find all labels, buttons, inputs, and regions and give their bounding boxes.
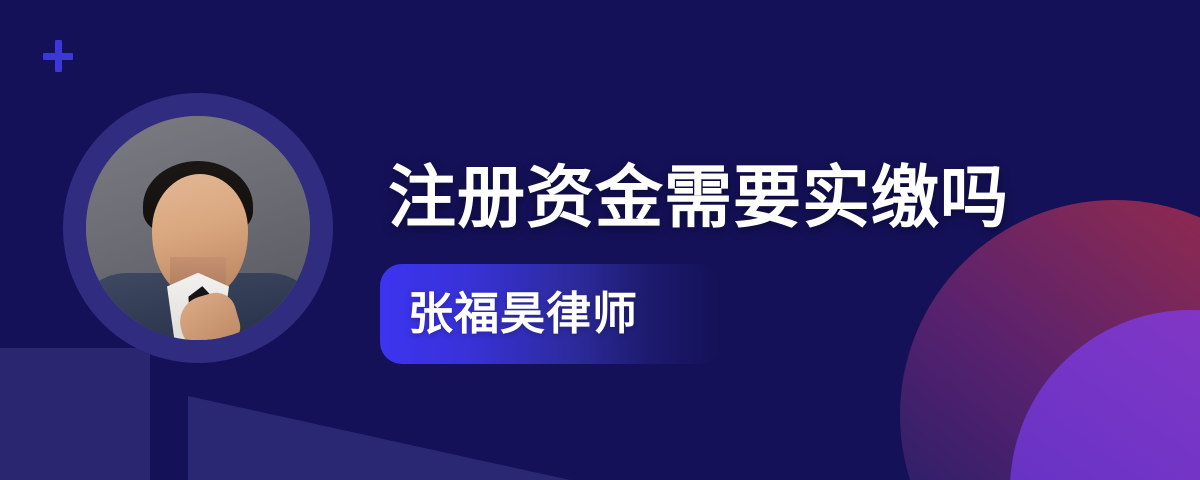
plus-icon xyxy=(43,40,73,72)
page-title: 注册资金需要实缴吗 xyxy=(388,160,1048,236)
banner-card: 注册资金需要实缴吗 张福昊律师 xyxy=(0,0,1200,480)
decorative-band xyxy=(0,348,150,480)
name-badge: 张福昊律师 xyxy=(380,264,720,364)
name-badge-label: 张福昊律师 xyxy=(380,289,638,339)
decorative-wedge xyxy=(150,348,570,480)
avatar-portrait-image xyxy=(86,116,310,340)
avatar xyxy=(86,116,310,340)
